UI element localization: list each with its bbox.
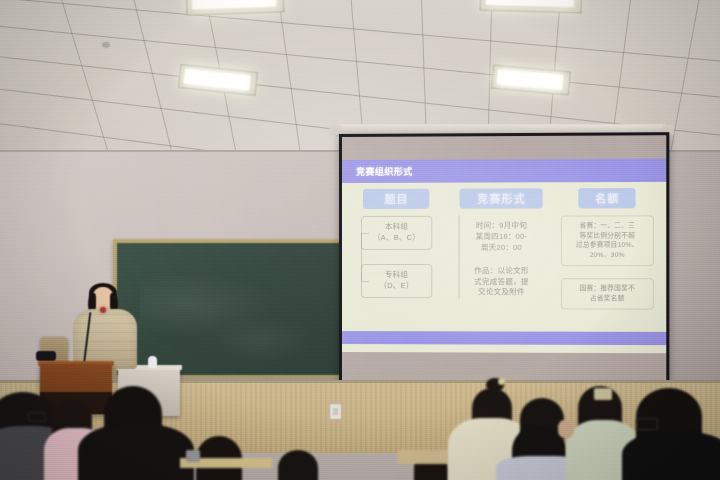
box-line: （A、B、C） [366,233,428,244]
box-line: 作品：以论文形 [460,266,544,277]
slide-box: 国赛：推荐国奖不 占省奖名额 [561,278,654,310]
microphone-head [100,307,106,313]
eyeglasses-icon [636,418,658,430]
slide-box: 作品：以论文形 式完成答题，提 交论文及附件 [456,261,548,304]
projected-slide: 竞赛组织形式 题目 本科组 （A、B、C） 专科组 （D、E） [342,159,666,354]
box-line: 省赛：一、二、三 [566,221,648,231]
hair-clip-icon [594,388,612,400]
box-line: （D、E） [366,281,428,292]
slide-box: 本科组 （A、B、C） [361,216,433,250]
box-line: 时间：9月中旬 [460,221,544,232]
box-line: 周天20：00 [460,243,544,254]
box-line: 等奖比例分别不超 [566,231,648,241]
slide-column-topic: 题目 本科组 （A、B、C） 专科组 （D、E） [348,189,444,298]
box-line: 某周四18：00- [460,232,544,243]
connector-line [361,233,369,234]
projection-screen[interactable]: 竞赛组织形式 题目 本科组 （A、B、C） 专科组 （D、E） [339,132,669,394]
wall-light-switch[interactable] [329,403,342,420]
column-header-chip-topic: 题目 [363,189,429,209]
lecture-hall-photo: 竞赛组织形式 题目 本科组 （A、B、C） 专科组 （D、E） [0,0,720,480]
audience-member-3-body [78,424,194,480]
column-header-chip-format: 竞赛形式 [460,188,543,208]
water-bottle [148,356,157,368]
slide-column-quota: 名额 省赛：一、二、三 等奖比例分别不超 过总参赛项目10%、 20%、30% … [558,188,656,310]
slide-box: 省赛：一、二、三 等奖比例分别不超 过总参赛项目10%、 20%、30% [561,215,654,266]
slide-box: 时间：9月中旬 某周四18：00- 周天20：00 [456,216,548,259]
audience-face-partial [558,420,574,438]
microphone-base [36,351,56,361]
column-header-chip-quota: 名额 [579,188,636,208]
connector-line [459,215,460,299]
connector-line [361,281,369,282]
slide-body: 题目 本科组 （A、B、C） 专科组 （D、E） 竞赛形式 [342,182,666,332]
connector-line [361,233,362,281]
box-line: 20%、30% [566,250,648,260]
box-line: 交论文及附件 [460,288,544,299]
desk-divider [186,450,200,462]
audience-member-11-body [622,432,720,480]
slide-box: 专科组 （D、E） [361,264,433,298]
audience-member-5-head [278,450,318,480]
box-line: 本科组 [366,222,428,233]
box-line: 占省奖名额 [566,294,648,304]
eyeglasses-icon [28,412,46,422]
smoke-detector-icon [102,42,110,47]
slide-footer-bar [342,331,666,345]
hair-clip-icon [498,378,505,385]
box-line: 式完成答题，提 [460,277,544,288]
box-line: 国赛：推荐国奖不 [566,284,648,294]
box-line: 专科组 [366,270,428,281]
box-line: 过总参赛项目10%、 [566,241,648,251]
slide-column-format: 竞赛形式 时间：9月中旬 某周四18：00- 周天20：00 作品：以论文形 式… [453,188,550,303]
chalkboard-smudge [210,316,314,362]
slide-title: 竞赛组织形式 [356,165,413,178]
